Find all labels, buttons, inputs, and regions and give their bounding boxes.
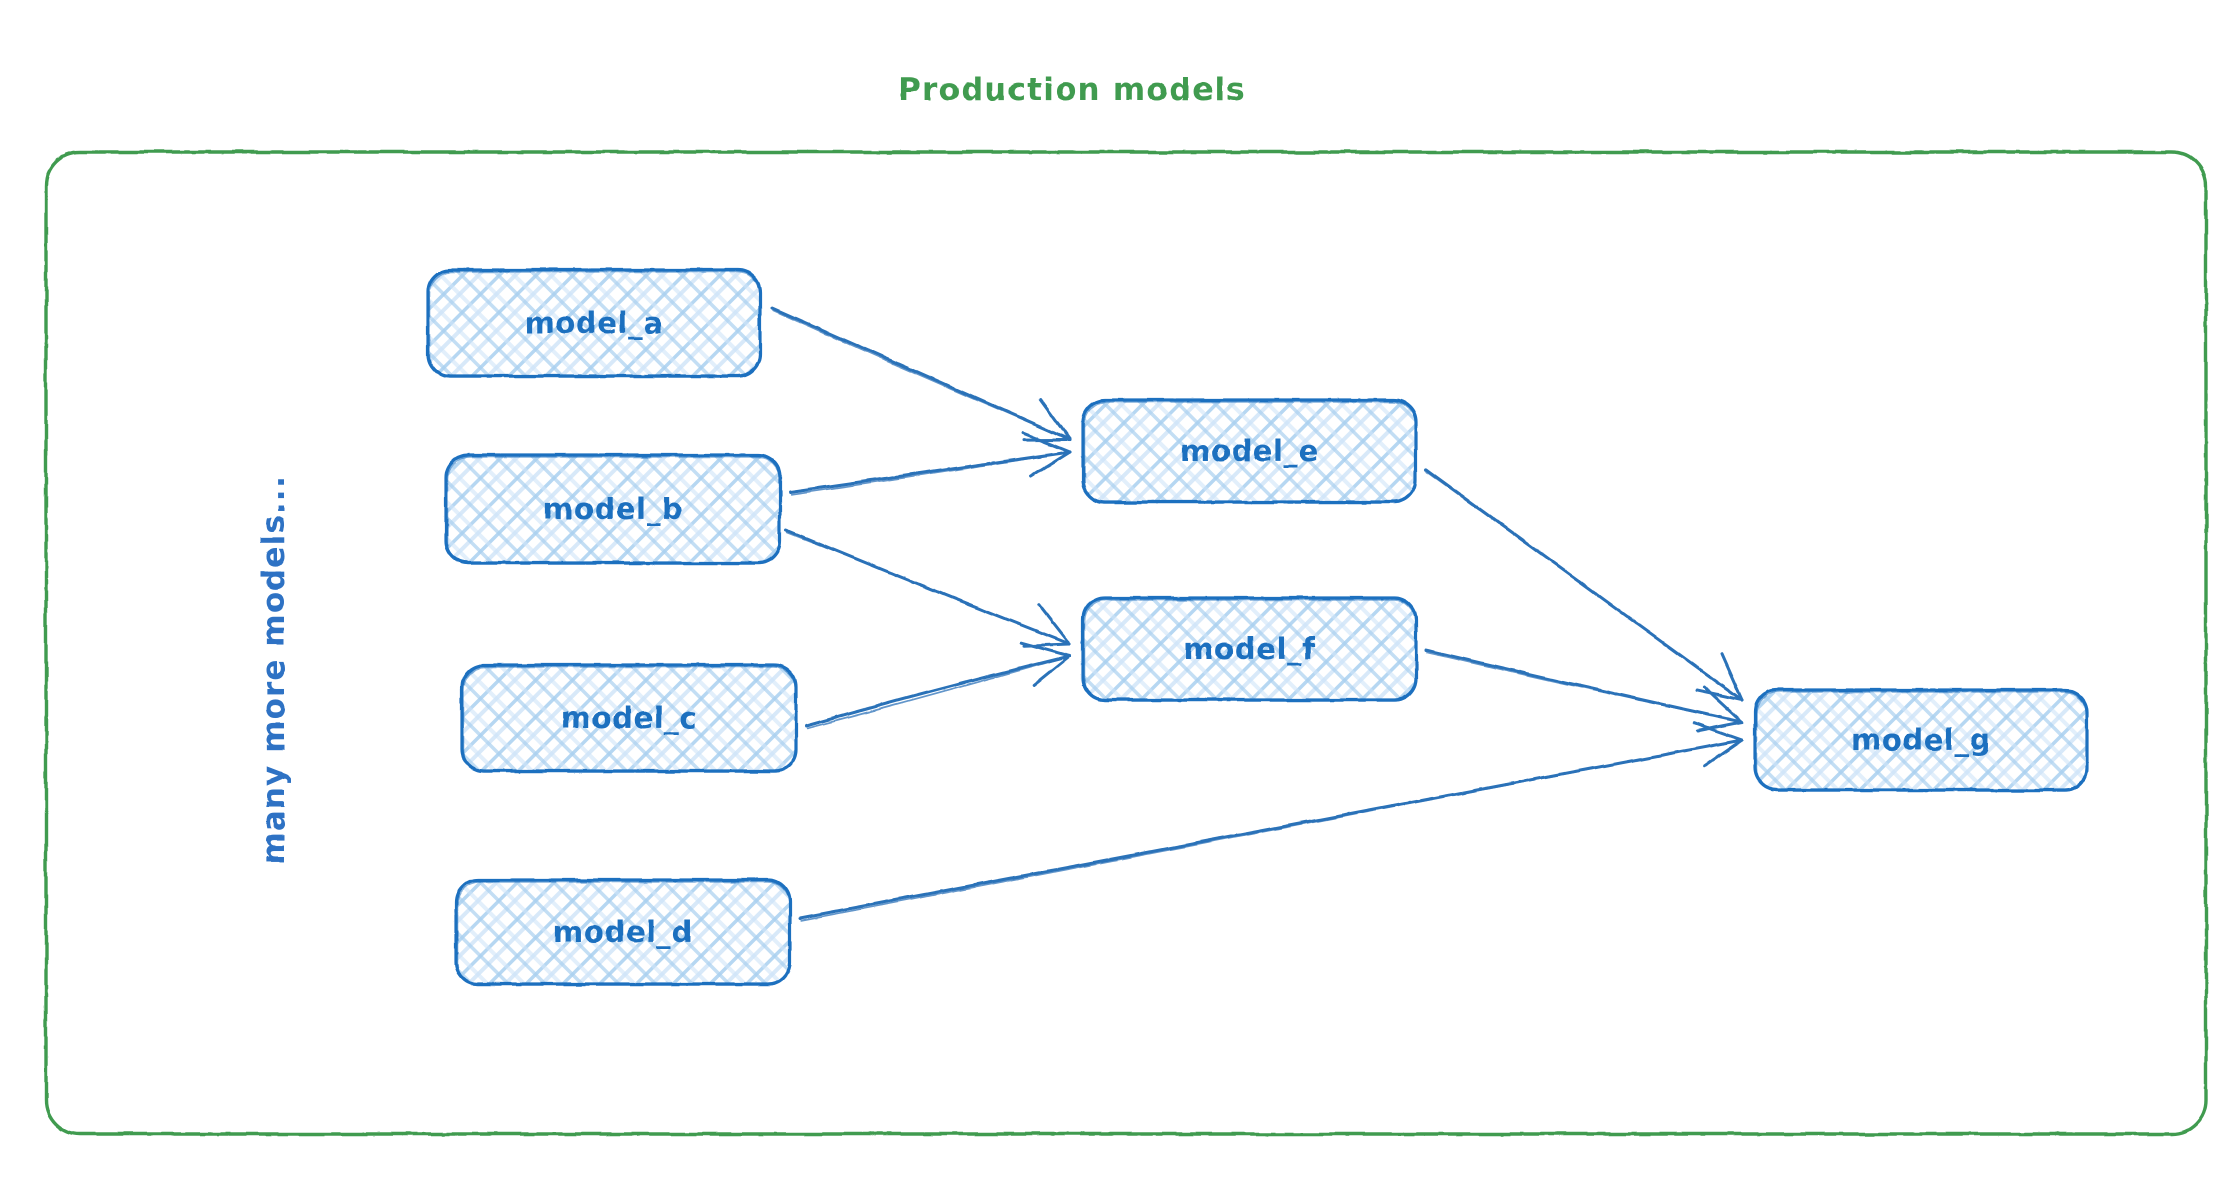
node-model_a[interactable]: model_a: [428, 270, 760, 377]
node-label: model_e: [1180, 434, 1319, 468]
node-label: model_f: [1184, 632, 1316, 666]
diagram-svg: Production models many more models... mo…: [0, 0, 2240, 1188]
edge-line: [791, 452, 1070, 494]
node-label: model_b: [543, 492, 683, 526]
node-label: model_c: [561, 701, 697, 735]
edge-c-f: [806, 643, 1070, 729]
node-model_b[interactable]: model_b: [446, 455, 780, 564]
node-label: model_g: [1851, 723, 1991, 757]
edge-e-g: [1426, 470, 1742, 700]
edge-f-g: [1426, 650, 1742, 731]
edge-d-g: [800, 723, 1742, 920]
edge-a-e: [772, 308, 1070, 440]
node-model_e[interactable]: model_e: [1083, 400, 1416, 503]
node-model_c[interactable]: model_c: [462, 665, 796, 772]
edge-b-e: [790, 433, 1070, 494]
many-more-models-note: many more models...: [256, 475, 292, 864]
diagram-canvas: Production models many more models... mo…: [0, 0, 2240, 1188]
node-model_f[interactable]: model_f: [1083, 598, 1416, 701]
node-model_d[interactable]: model_d: [456, 880, 790, 985]
nodes-layer: model_amodel_bmodel_cmodel_dmodel_emodel…: [428, 270, 2087, 985]
node-label: model_d: [553, 915, 693, 949]
edge-line: [801, 740, 1742, 920]
group-title: Production models: [898, 72, 1246, 108]
edge-line: [807, 656, 1070, 728]
edge-line: [1427, 472, 1742, 700]
edge-line: [787, 532, 1070, 644]
edge-b-f: [786, 530, 1070, 646]
node-label: model_a: [525, 306, 664, 340]
node-model_g[interactable]: model_g: [1755, 690, 2087, 791]
